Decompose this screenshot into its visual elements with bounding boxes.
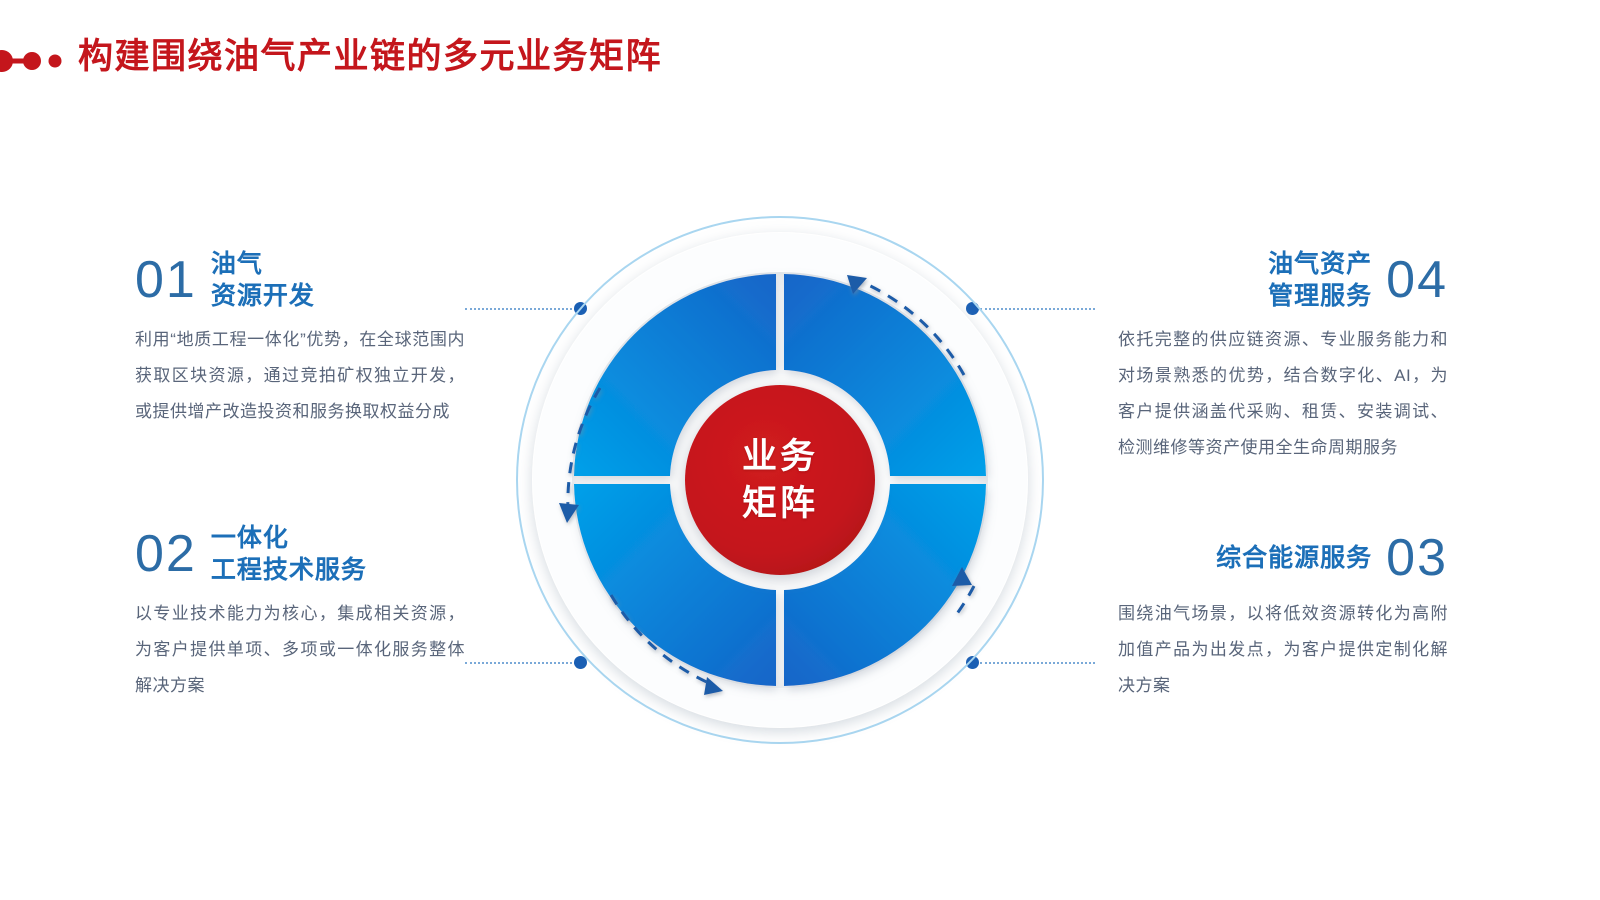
block-04-body: 依托完整的供应链资源、专业服务能力和对场景熟悉的优势，结合数字化、AI，为客户提… bbox=[1118, 322, 1448, 466]
block-04-title: 油气资产 管理服务 bbox=[1268, 248, 1372, 312]
block-04-number: 04 bbox=[1386, 252, 1448, 308]
block-02-title: 一体化 工程技术服务 bbox=[211, 522, 367, 586]
block-01-number: 01 bbox=[135, 252, 197, 308]
block-02-title-line2: 工程技术服务 bbox=[211, 554, 367, 586]
page-title: 构建围绕油气产业链的多元业务矩阵 bbox=[78, 34, 662, 80]
block-04-head: 油气资产 管理服务 04 bbox=[1118, 248, 1448, 312]
block-03-head: 综合能源服务 03 bbox=[1118, 530, 1448, 586]
block-01-title-line2: 资源开发 bbox=[211, 280, 315, 312]
block-01-title-line1: 油气 bbox=[211, 248, 315, 280]
block-02-body: 以专业技术能力为核心，集成相关资源，为客户提供单项、多项或一体化服务整体解决方案 bbox=[135, 596, 465, 704]
block-02: 02 一体化 工程技术服务 以专业技术能力为核心，集成相关资源，为客户提供单项、… bbox=[135, 522, 465, 704]
title-bar: 构建围绕油气产业链的多元业务矩阵 bbox=[0, 18, 1600, 88]
block-03-number: 03 bbox=[1386, 530, 1448, 586]
block-01: 01 油气 资源开发 利用“地质工程一体化”优势，在全球范围内获取区块资源，通过… bbox=[135, 248, 465, 430]
block-03-body: 围绕油气场景，以将低效资源转化为高附加值产品为出发点，为客户提供定制化解决方案 bbox=[1118, 596, 1448, 704]
block-03: 综合能源服务 03 围绕油气场景，以将低效资源转化为高附加值产品为出发点，为客户… bbox=[1118, 530, 1448, 704]
block-03-title-line1: 综合能源服务 bbox=[1216, 542, 1372, 574]
block-04: 油气资产 管理服务 04 依托完整的供应链资源、专业服务能力和对场景熟悉的优势，… bbox=[1118, 248, 1448, 466]
block-02-title-line1: 一体化 bbox=[211, 522, 367, 554]
block-01-body: 利用“地质工程一体化”优势，在全球范围内获取区块资源，通过竞拍矿权独立开发，或提… bbox=[135, 322, 465, 430]
block-02-head: 02 一体化 工程技术服务 bbox=[135, 522, 465, 586]
title-decoration-icon bbox=[0, 50, 62, 72]
business-matrix-diagram: 业务 矩阵 bbox=[515, 215, 1045, 745]
block-04-title-line1: 油气资产 bbox=[1268, 248, 1372, 280]
block-01-head: 01 油气 资源开发 bbox=[135, 248, 465, 312]
center-red-circle bbox=[685, 385, 875, 575]
block-04-title-line2: 管理服务 bbox=[1268, 280, 1372, 312]
block-03-title: 综合能源服务 bbox=[1216, 542, 1372, 574]
block-01-title: 油气 资源开发 bbox=[211, 248, 315, 312]
block-02-number: 02 bbox=[135, 526, 197, 582]
